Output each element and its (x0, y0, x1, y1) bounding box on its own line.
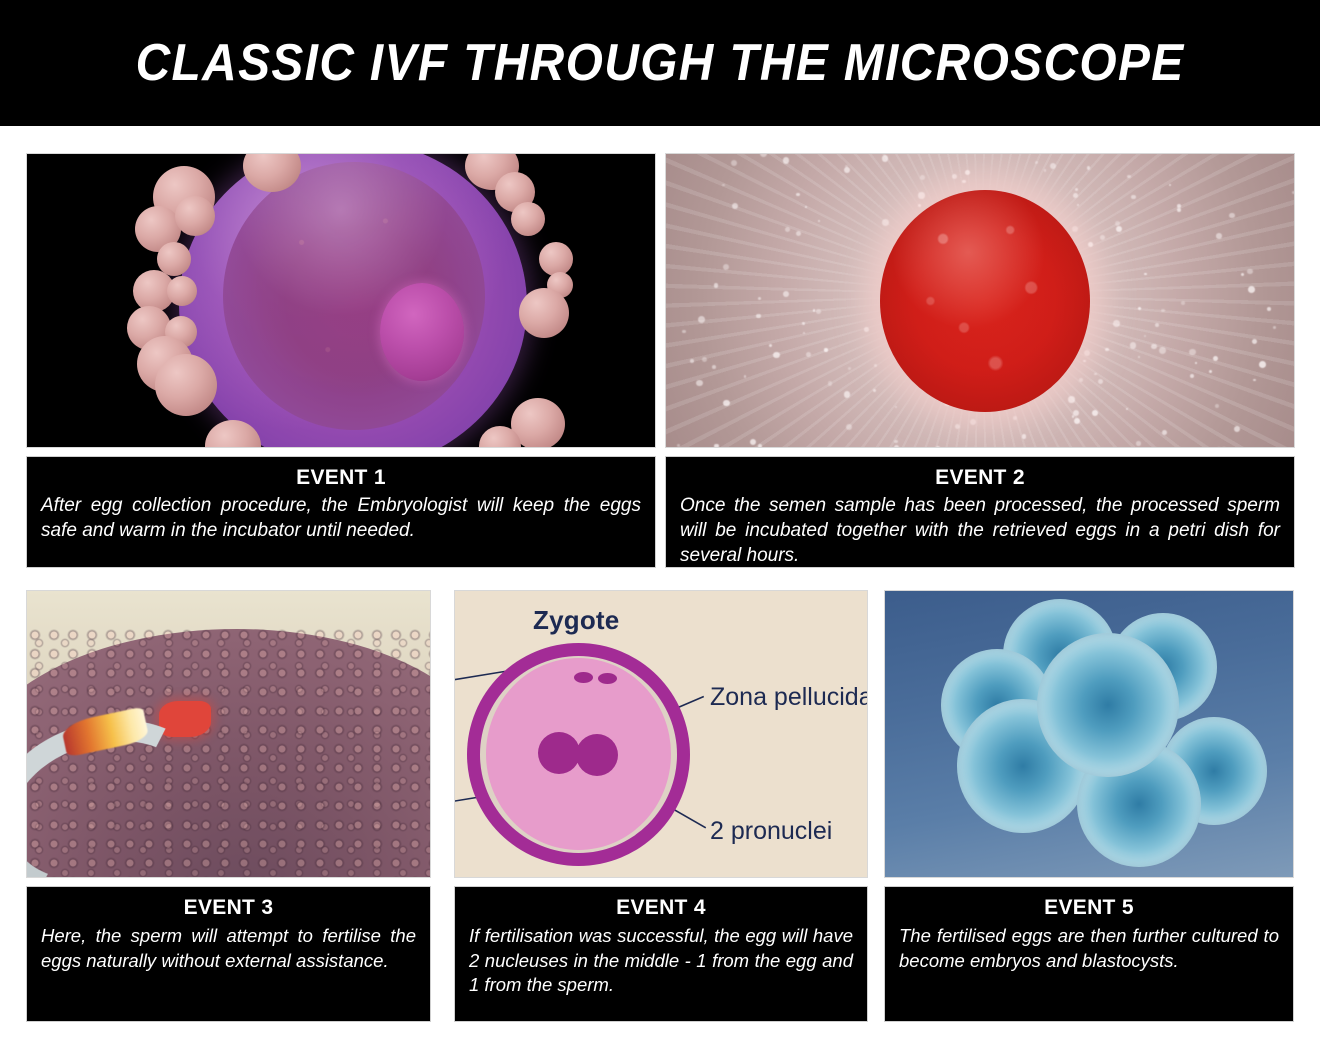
sperm-dot (677, 444, 679, 446)
sperm-dot (696, 380, 703, 387)
sperm-dot (895, 406, 897, 408)
sperm-dot (1072, 226, 1078, 232)
sperm-dot (1068, 396, 1074, 402)
embryo-cell (1037, 633, 1179, 777)
pronucleus-shape (538, 732, 580, 774)
sperm-dot (882, 219, 889, 226)
polar-body-shape (574, 672, 593, 683)
sperm-dot (806, 352, 811, 357)
event-2-image (665, 153, 1295, 448)
sperm-dot (1177, 208, 1181, 212)
sperm-dot (783, 157, 789, 163)
event-5-body: The fertilised eggs are then further cul… (899, 924, 1279, 973)
sperm-dot (1292, 191, 1295, 194)
event-3-body: Here, the sperm will attempt to fertilis… (41, 924, 416, 973)
cumulus-cell (175, 196, 215, 236)
sperm-dot (1035, 161, 1039, 165)
sperm-dot (1169, 184, 1171, 186)
sperm-dot (918, 204, 921, 207)
event-1-caption: EVENT 1 After egg collection procedure, … (26, 456, 656, 568)
sperm-dot (1221, 447, 1227, 448)
sperm-dot (844, 167, 850, 173)
event-1-title: EVENT 1 (41, 466, 641, 490)
sperm-dot (1077, 204, 1079, 206)
sperm-dot (805, 206, 807, 208)
embryo-cell-cluster (885, 591, 1293, 877)
sperm-dot (844, 391, 851, 398)
sperm-dot (828, 381, 833, 386)
sperm-dot (1131, 195, 1136, 200)
sperm-dot (1159, 347, 1166, 354)
event-4-caption: EVENT 4 If fertilisation was successful,… (454, 886, 868, 1022)
sperm-dot (952, 174, 957, 179)
sperm-dot (1177, 204, 1181, 208)
sperm-dot (955, 424, 960, 429)
event-1-image (26, 153, 656, 448)
sperm-dot (894, 440, 898, 444)
sperm-dot (1138, 356, 1140, 358)
sperm-dot (1100, 235, 1105, 240)
sperm-dot (1267, 307, 1271, 311)
sperm-dot (1116, 226, 1122, 232)
event-5-caption: EVENT 5 The fertilised eggs are then fur… (884, 886, 1294, 1022)
sperm-dot (1234, 426, 1240, 432)
sperm-dot (874, 364, 877, 367)
sperm-dot (920, 175, 926, 181)
sperm-dot (1215, 404, 1219, 408)
sperm-dot (962, 180, 966, 184)
sperm-dot (1190, 374, 1194, 378)
sperm-dot (1126, 408, 1128, 410)
sperm-dot (1127, 175, 1130, 178)
event-3-image (26, 590, 431, 878)
oocyte-nucleus-shape (380, 283, 464, 381)
sperm-dot (816, 309, 821, 314)
sperm-dot (1273, 326, 1276, 329)
sperm-dot (785, 227, 790, 232)
sperm-dot (1013, 416, 1017, 420)
sperm-dot (1151, 344, 1157, 350)
sperm-dot (1216, 233, 1221, 238)
sperm-dot (1248, 286, 1255, 293)
sperm-dot (1253, 379, 1256, 382)
perivitelline-space-shape (480, 656, 677, 853)
sperm-dot (1098, 379, 1103, 384)
sperm-dot (702, 357, 707, 362)
sperm-dot (918, 192, 924, 198)
cumulus-cell (519, 288, 569, 338)
sperm-dot (665, 445, 666, 448)
sperm-dot (1130, 342, 1137, 349)
sperm-dot (1072, 415, 1074, 417)
sperm-dot (744, 375, 747, 378)
event-5-title: EVENT 5 (899, 896, 1279, 920)
header-band: CLASSIC IVF THROUGH THE MICROSCOPE (0, 0, 1320, 126)
sperm-dot (965, 170, 970, 175)
sperm-dot (1144, 335, 1146, 337)
sperm-dot (1136, 441, 1141, 446)
sperm-dot (1189, 349, 1196, 356)
event-2-body: Once the semen sample has been processed… (680, 494, 1280, 568)
sperm-dot (1247, 269, 1252, 274)
sperm-dot (1079, 378, 1083, 382)
sperm-dot (731, 160, 737, 166)
sperm-dot (1050, 163, 1056, 169)
sperm-dot (1155, 323, 1159, 327)
sperm-dot (712, 365, 716, 369)
sperm-dot (1181, 301, 1185, 305)
cumulus-cell (167, 276, 197, 306)
sperm-dot (802, 322, 805, 325)
sperm-dot (845, 165, 848, 168)
event-2-title: EVENT 2 (680, 466, 1280, 490)
sperm-dot (824, 348, 827, 351)
sperm-dot (732, 203, 739, 210)
sperm-dot (1213, 356, 1218, 361)
sperm-dot (1092, 410, 1098, 416)
sperm-dot (846, 424, 853, 431)
sperm-dot (1209, 370, 1212, 373)
event-3-caption: EVENT 3 Here, the sperm will attempt to … (26, 886, 431, 1022)
sperm-dot (1044, 169, 1046, 171)
sperm-dot (1138, 307, 1141, 310)
oocyte-shape (179, 153, 527, 448)
sperm-dot (1074, 418, 1080, 424)
pronuclei-label: 2 pronuclei (710, 817, 832, 846)
zona-pellucida-label: Zona pellucida (710, 683, 868, 712)
red-egg-shape (880, 190, 1090, 412)
sperm-dot (758, 444, 763, 448)
event-2-caption: EVENT 2 Once the semen sample has been p… (665, 456, 1295, 568)
sperm-dot (773, 352, 779, 358)
zona-pellucida-shape (467, 643, 690, 866)
sperm-dot (803, 332, 805, 334)
sperm-dot (1252, 339, 1257, 344)
event-1-body: After egg collection procedure, the Embr… (41, 494, 641, 543)
event-4-title: EVENT 4 (469, 896, 853, 920)
event-4-image: Zygote Zona pellucida 2 pronuclei (454, 590, 868, 878)
sperm-dot (750, 439, 756, 445)
cumulus-cell (511, 202, 545, 236)
event-3-title: EVENT 3 (41, 896, 416, 920)
sperm-dot (723, 264, 729, 270)
sperm-dot (1162, 430, 1168, 436)
sperm-dot (1022, 434, 1027, 439)
sperm-dot (894, 445, 899, 448)
sperm-dot (756, 314, 760, 318)
sperm-dot (1075, 188, 1078, 191)
sperm-dot (722, 184, 725, 187)
sperm-dot (813, 309, 815, 311)
sperm-dot (1087, 166, 1091, 170)
sperm-dot (690, 359, 694, 363)
sperm-dot (818, 220, 820, 222)
sperm-dot (1241, 273, 1244, 276)
sperm-dot (864, 327, 869, 332)
sperm-dot (723, 400, 730, 407)
sperm-dot (714, 444, 718, 448)
sperm-dot (1105, 348, 1108, 351)
sperm-dot (796, 193, 800, 197)
sperm-dot (758, 297, 761, 300)
infographic-page: CLASSIC IVF THROUGH THE MICROSCOPE (0, 0, 1320, 1056)
event-4-body: If fertilisation was successful, the egg… (469, 924, 853, 997)
sperm-dot (760, 153, 767, 157)
sperm-dot (714, 283, 719, 288)
page-title: CLASSIC IVF THROUGH THE MICROSCOPE (136, 37, 1185, 89)
sperm-dot (936, 446, 940, 448)
cumulus-cell (539, 242, 573, 276)
sperm-dot (882, 155, 889, 162)
pronucleus-shape (576, 734, 618, 776)
sperm-dot (1094, 373, 1097, 376)
polar-body-shape (598, 673, 617, 684)
sperm-dot (1229, 213, 1234, 218)
sperm-dot (783, 291, 789, 297)
sperm-dot (1144, 273, 1146, 275)
cytoplasm-shape (486, 658, 671, 850)
sperm-dot (1217, 447, 1221, 448)
sperm-dot (698, 316, 705, 323)
sperm-dot (1161, 309, 1165, 313)
sperm-dot (1259, 361, 1266, 368)
sperm-dot (769, 344, 772, 347)
sperm-dot (1088, 242, 1093, 247)
sperm-dot (1083, 360, 1086, 363)
sperm-dot (682, 330, 686, 334)
sperm-dot (1073, 193, 1078, 198)
sperm-dot (1113, 320, 1120, 327)
sperm-dot (1084, 350, 1090, 356)
cumulus-cell (155, 354, 217, 416)
sperm-dot (873, 389, 876, 392)
sperm-dot (848, 367, 851, 370)
sperm-dot (970, 419, 976, 425)
sperm-dot (1195, 362, 1197, 364)
event-5-image (884, 590, 1294, 878)
zygote-diagram-title: Zygote (533, 605, 619, 636)
sperm-dot (796, 231, 801, 236)
